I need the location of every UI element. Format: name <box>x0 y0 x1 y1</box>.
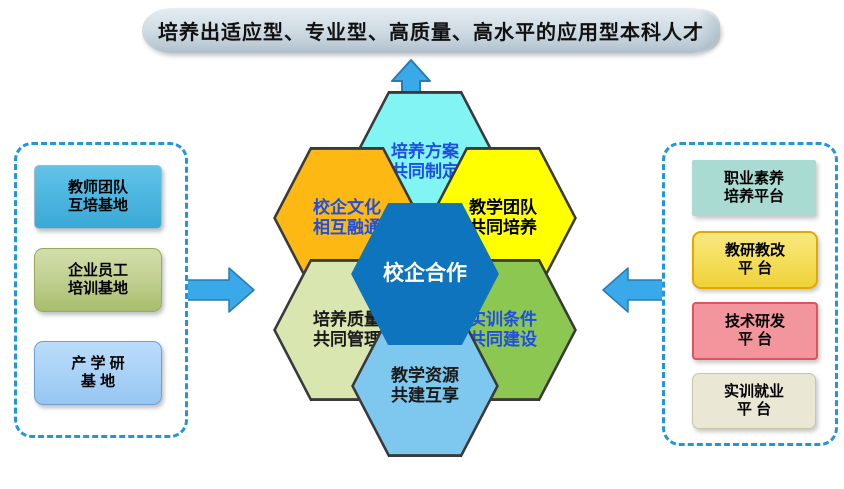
hex-4-line2: 共同管理 <box>313 330 381 350</box>
left-box-1-line1: 企业员工 <box>68 262 128 280</box>
left-box-0-line2: 互培基地 <box>68 197 128 215</box>
hex-0-line2: 共同制定 <box>391 162 459 182</box>
right-box-0-line2: 培养平台 <box>724 188 784 206</box>
goal-banner: 培养出适应型、专业型、高质量、高水平的应用型本科人才 <box>142 8 720 53</box>
hex-1-line1: 教学团队 <box>469 198 537 218</box>
left-box-0-line1: 教师团队 <box>68 179 128 197</box>
hex-5-line2: 相互融通 <box>313 218 381 238</box>
right-box-3-line1: 实训就业 <box>724 383 784 401</box>
hex-2-line1: 实训条件 <box>469 310 537 330</box>
right-box-vocational-literacy-platform[interactable]: 职业素养 培养平台 <box>692 160 816 216</box>
right-box-2-line1: 技术研发 <box>725 313 785 331</box>
hex-3-line1: 教学资源 <box>391 366 459 386</box>
left-box-2-line1: 产 学 研 <box>71 355 124 373</box>
hex-center-label: 校企合作 <box>383 261 467 286</box>
hex-3-line2: 共建互享 <box>391 386 459 406</box>
right-box-3-line2: 平 台 <box>737 401 771 419</box>
hex-0-line1: 培养方案 <box>391 142 459 162</box>
hex-4-line1: 培养质量 <box>313 310 381 330</box>
hex-2-line2: 共同建设 <box>469 330 537 350</box>
right-box-teaching-research-reform-platform[interactable]: 教研教改 平 台 <box>692 231 818 289</box>
right-box-0-line1: 职业素养 <box>724 170 784 188</box>
right-box-1-line2: 平 台 <box>738 260 772 278</box>
hex-5-line1: 校企文化 <box>313 198 381 218</box>
right-box-2-line2: 平 台 <box>738 331 772 349</box>
hex-1-line2: 共同培养 <box>469 218 537 238</box>
right-box-1-line1: 教研教改 <box>725 242 785 260</box>
left-box-enterprise-staff-training-base[interactable]: 企业员工 培训基地 <box>34 248 162 312</box>
left-box-teacher-team-base[interactable]: 教师团队 互培基地 <box>34 165 162 229</box>
left-box-2-line2: 基 地 <box>81 373 115 391</box>
left-box-industry-academia-research-base[interactable]: 产 学 研 基 地 <box>34 341 162 405</box>
left-box-1-line2: 培训基地 <box>68 280 128 298</box>
hexagon-cluster: 培养方案 共同制定 校企文化 相互融通 教学团队 共同培养 培养质量 共同管理 … <box>215 88 635 463</box>
right-box-technology-rnd-platform[interactable]: 技术研发 平 台 <box>692 302 818 360</box>
goal-banner-text: 培养出适应型、专业型、高质量、高水平的应用型本科人才 <box>158 16 704 45</box>
right-box-training-employment-platform[interactable]: 实训就业 平 台 <box>692 373 816 429</box>
